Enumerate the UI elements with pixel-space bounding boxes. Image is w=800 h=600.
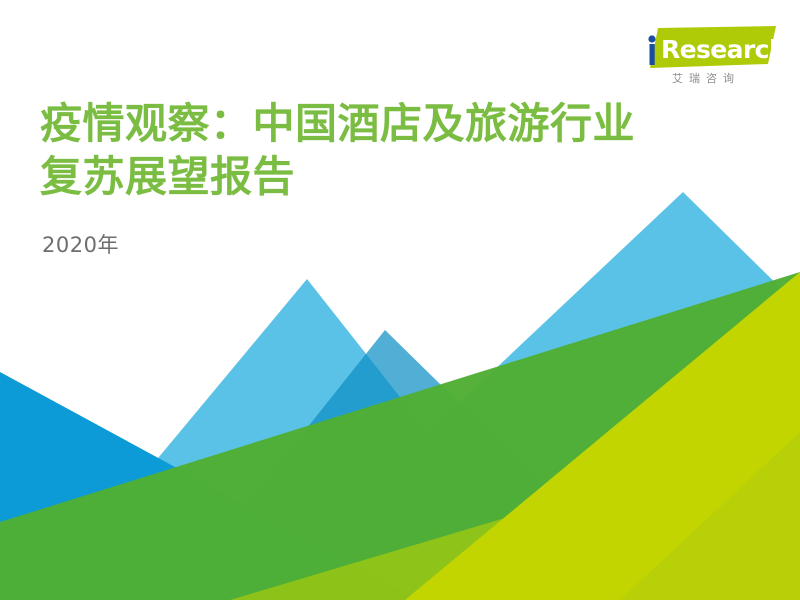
logo-chinese-name: 艾瑞咨询 <box>628 70 778 86</box>
content-layer: Research 艾瑞咨询 疫情观察：中国酒店及旅游行业 复苏展望报告 2020… <box>0 0 800 600</box>
logo-i-dot-icon <box>648 35 655 42</box>
logo-mark: Research <box>628 26 778 70</box>
iresearch-logo[interactable]: Research 艾瑞咨询 <box>628 26 778 92</box>
title-line-2: 复苏展望报告 <box>40 150 770 203</box>
subtitle-year: 2020年 <box>42 229 119 259</box>
report-cover-slide: Research 艾瑞咨询 疫情观察：中国酒店及旅游行业 复苏展望报告 2020… <box>0 0 800 600</box>
logo-i-stem-icon <box>650 44 655 65</box>
page-title: 疫情观察：中国酒店及旅游行业 复苏展望报告 <box>40 97 770 203</box>
title-line-1: 疫情观察：中国酒店及旅游行业 <box>40 97 770 150</box>
logo-wordmark: Research <box>661 35 778 64</box>
